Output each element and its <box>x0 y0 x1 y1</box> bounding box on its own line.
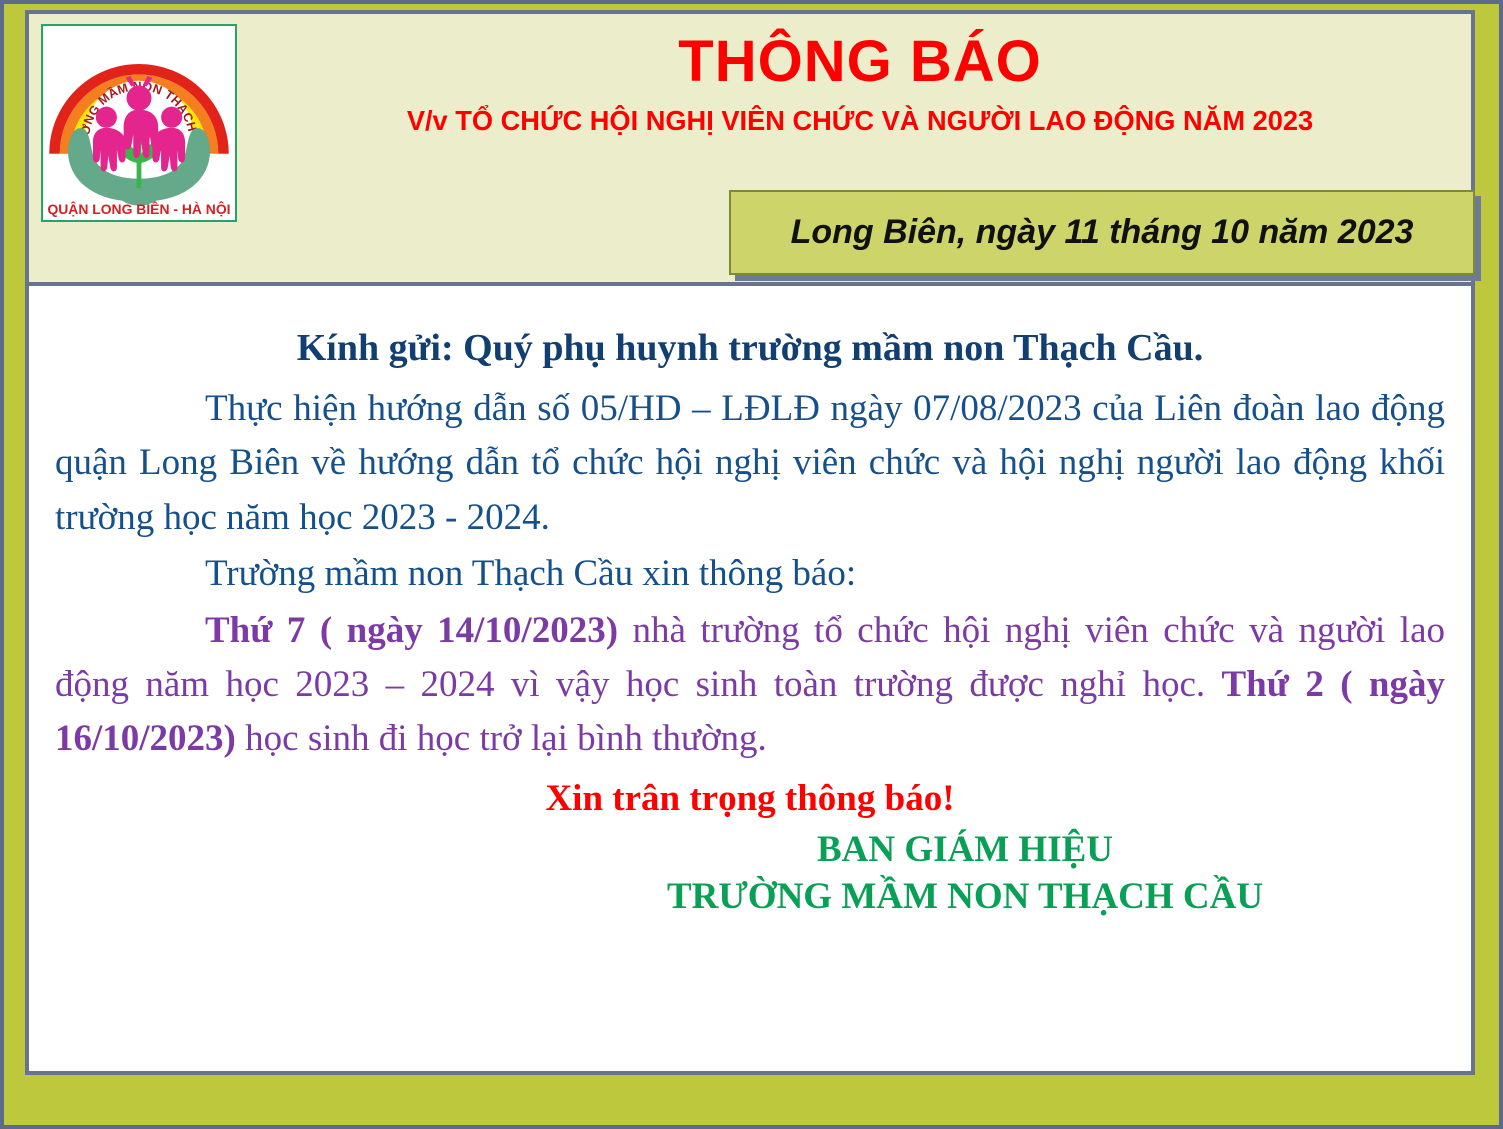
title-block: THÔNG BÁO V/v TỔ CHỨC HỘI NGHỊ VIÊN CHỨC… <box>259 32 1461 137</box>
closing-line: Xin trân trọng thông báo! <box>55 777 1445 820</box>
signature-block: BAN GIÁM HIỆU TRƯỜNG MẦM NON THẠCH CẦU <box>55 826 1445 921</box>
date-text: Long Biên, ngày 11 tháng 10 năm 2023 <box>791 213 1414 252</box>
date-box: Long Biên, ngày 11 tháng 10 năm 2023 <box>729 190 1475 275</box>
date-highlight-saturday: Thứ 7 ( ngày 14/10/2023) <box>205 610 618 651</box>
header-panel: TRƯỜNG MẦM NON THẠCH CẦU <box>29 14 1471 286</box>
signature-line-2: TRƯỜNG MẦM NON THẠCH CẦU <box>485 873 1445 920</box>
signature-line-1: BAN GIÁM HIỆU <box>485 826 1445 873</box>
poster-frame: TRƯỜNG MẦM NON THẠCH CẦU <box>0 0 1503 1129</box>
school-logo: TRƯỜNG MẦM NON THẠCH CẦU <box>41 24 237 222</box>
page-title: THÔNG BÁO <box>259 32 1461 93</box>
greeting-line: Kính gửi: Quý phụ huynh trường mầm non T… <box>55 326 1445 370</box>
body-panel: Kính gửi: Quý phụ huynh trường mầm non T… <box>29 286 1471 1071</box>
paragraph-1: Thực hiện hướng dẫn số 05/HD – LĐLĐ ngày… <box>55 382 1445 545</box>
logo-bottom-text: QUẬN LONG BIÊN - HÀ NỘI <box>47 200 230 217</box>
poster-inner: TRƯỜNG MẦM NON THẠCH CẦU <box>25 10 1475 1075</box>
paragraph-3-text-2: học sinh đi học trở lại bình thường. <box>236 718 767 759</box>
paragraph-3: Thứ 7 ( ngày 14/10/2023) nhà trường tổ c… <box>55 604 1445 767</box>
page-subtitle: V/v TỔ CHỨC HỘI NGHỊ VIÊN CHỨC VÀ NGƯỜI … <box>265 105 1455 137</box>
paragraph-2: Trường mầm non Thạch Cầu xin thông báo: <box>55 547 1445 601</box>
school-logo-graphic: TRƯỜNG MẦM NON THẠCH CẦU <box>43 26 235 220</box>
